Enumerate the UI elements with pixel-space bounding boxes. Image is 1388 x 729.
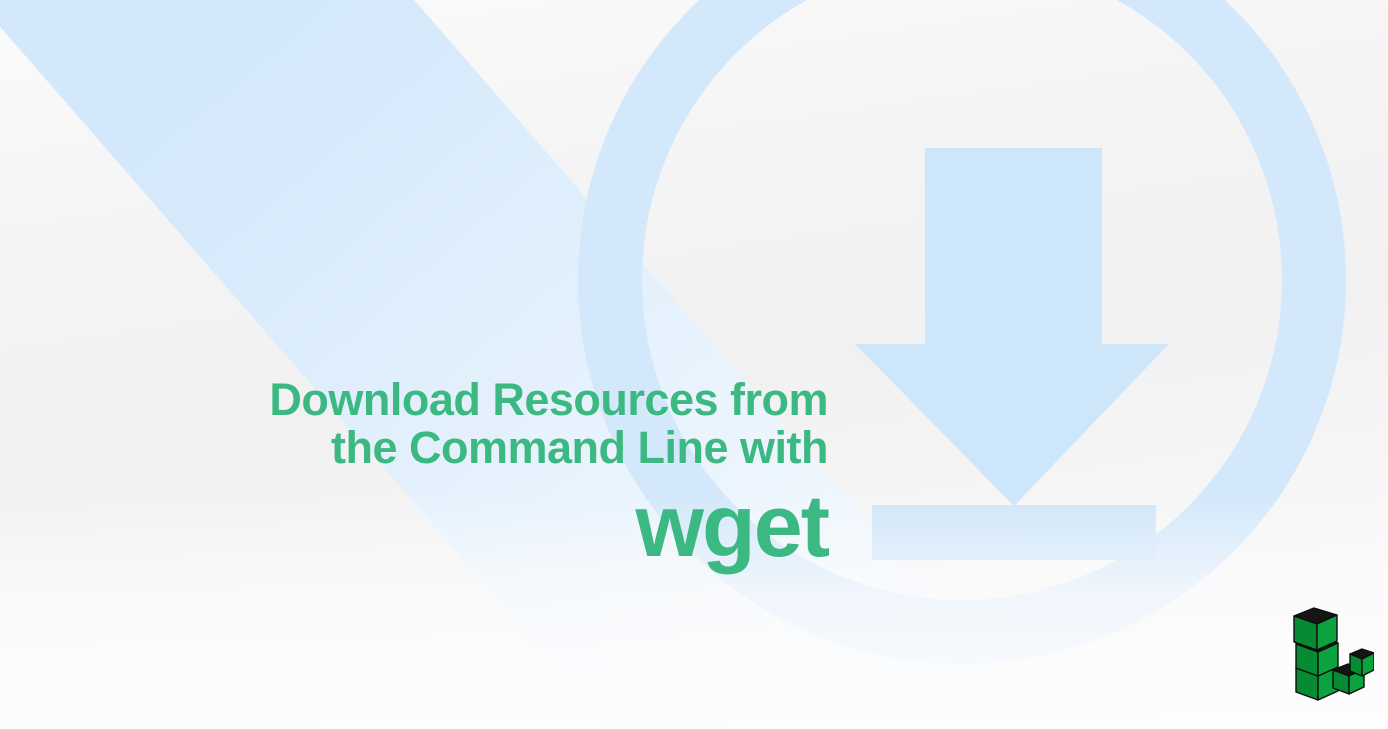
cube-arm-outer	[1350, 649, 1374, 676]
title-line-1: Download Resources from	[0, 376, 828, 424]
diagonal-stripe-decoration	[0, 0, 1147, 729]
background-art	[0, 0, 1388, 729]
arrow-base-bar	[872, 505, 1156, 560]
cube-col-top	[1294, 608, 1337, 650]
download-arrow-icon	[855, 148, 1169, 560]
arrow-shaft	[925, 148, 1102, 358]
page-title: Download Resources from the Command Line…	[0, 376, 828, 471]
arrow-head	[855, 344, 1169, 506]
slide-canvas: Download Resources from the Command Line…	[0, 0, 1388, 729]
isometric-cubes-logo	[1282, 604, 1374, 708]
cubes-svg	[1282, 604, 1374, 708]
title-emphasis-word: wget	[0, 482, 828, 570]
title-line-2: the Command Line with	[0, 424, 828, 472]
